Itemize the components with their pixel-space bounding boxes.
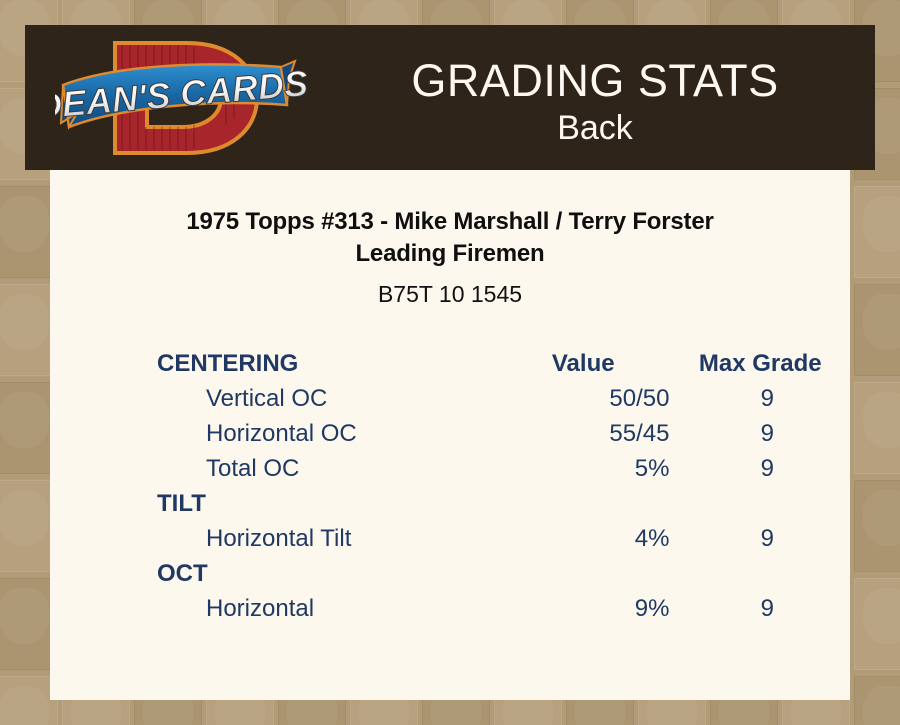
column-header-max-grade: Max Grade	[676, 350, 847, 378]
header-bar: DEAN'S CARDS GRADING STATS Back	[25, 25, 875, 170]
column-header-value: Value	[497, 350, 676, 378]
row-label: Total OC	[157, 455, 514, 483]
background-watermark-figure	[863, 490, 900, 546]
background-watermark-figure	[0, 392, 49, 448]
background-watermark-figure	[863, 588, 900, 644]
row-max-grade: 9	[691, 595, 847, 623]
table-row: Horizontal Tilt 4% 9	[157, 525, 847, 560]
grading-stats-table: CENTERING Value Max Grade Vertical OC 50…	[157, 350, 847, 630]
row-label: Horizontal OC	[157, 420, 514, 448]
card-serial-number: B75T 10 1545	[50, 279, 850, 309]
section-label: TILT	[157, 490, 502, 518]
page-title: GRADING STATS	[411, 56, 778, 106]
background-watermark-card	[854, 382, 900, 474]
row-label: Horizontal	[157, 595, 514, 623]
row-value: 4%	[514, 525, 692, 553]
section-header-oct: OCT	[157, 560, 847, 595]
background-watermark-figure	[0, 490, 49, 546]
row-value: 50/50	[514, 385, 692, 413]
row-max-grade: 9	[691, 420, 847, 448]
card-title-line-2: Leading Firemen	[50, 238, 850, 270]
header-title-block: GRADING STATS Back	[315, 25, 875, 170]
page-subtitle: Back	[557, 108, 633, 148]
row-label: Horizontal Tilt	[157, 525, 514, 553]
section-header-tilt: TILT	[157, 490, 847, 525]
table-row: Total OC 5% 9	[157, 455, 847, 490]
background-watermark-figure	[0, 686, 49, 725]
background-watermark-figure	[863, 196, 900, 252]
background-watermark-figure	[863, 686, 900, 725]
row-max-grade: 9	[691, 455, 847, 483]
row-max-grade: 9	[691, 385, 847, 413]
background-watermark-card	[854, 578, 900, 670]
background-watermark-card	[854, 284, 900, 376]
deans-cards-logo: DEAN'S CARDS	[55, 27, 310, 169]
row-label: Vertical OC	[157, 385, 514, 413]
column-header-category: CENTERING	[157, 350, 497, 378]
row-value: 5%	[514, 455, 692, 483]
table-row: Horizontal 9% 9	[157, 595, 847, 630]
background-watermark-card	[854, 676, 900, 725]
background-watermark-figure	[863, 392, 900, 448]
logo-graphic: DEAN'S CARDS	[55, 27, 310, 169]
background-watermark-card	[854, 480, 900, 572]
row-max-grade: 9	[691, 525, 847, 553]
background-watermark-figure	[0, 294, 49, 350]
background-watermark-figure	[0, 196, 49, 252]
row-value: 55/45	[514, 420, 692, 448]
background-watermark-figure	[0, 588, 49, 644]
card-title-line-1: 1975 Topps #313 - Mike Marshall / Terry …	[50, 206, 850, 238]
card-identity: 1975 Topps #313 - Mike Marshall / Terry …	[50, 206, 850, 309]
table-header-row: CENTERING Value Max Grade	[157, 350, 847, 385]
section-label: OCT	[157, 560, 502, 588]
stats-panel: 1975 Topps #313 - Mike Marshall / Terry …	[50, 170, 850, 700]
background-watermark-figure	[863, 294, 900, 350]
table-row: Vertical OC 50/50 9	[157, 385, 847, 420]
table-row: Horizontal OC 55/45 9	[157, 420, 847, 455]
background-watermark-card	[854, 186, 900, 278]
row-value: 9%	[514, 595, 692, 623]
